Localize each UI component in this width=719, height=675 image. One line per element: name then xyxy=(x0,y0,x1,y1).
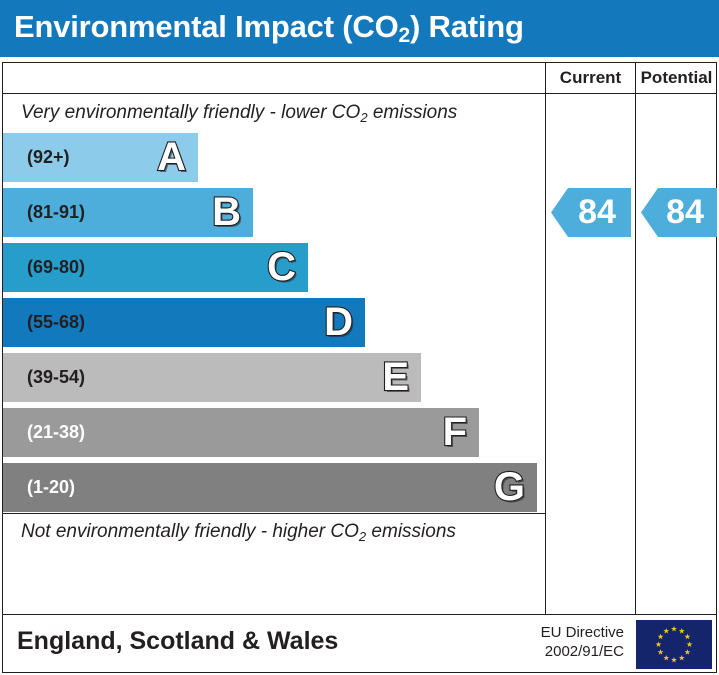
column-header-current: Current xyxy=(546,63,635,93)
band-range-b: (81-91) xyxy=(27,188,85,237)
caption-top: Very environmentally friendly - lower CO… xyxy=(3,95,545,131)
band-row-c: (69-80) C xyxy=(3,243,308,292)
caption-top-post: emissions xyxy=(368,102,458,123)
band-letter-e: E xyxy=(382,357,409,397)
band-row-b: (81-91) B xyxy=(3,188,253,237)
band-range-f: (21-38) xyxy=(27,408,85,457)
eu-flag-icon xyxy=(636,620,712,669)
caption-top-subscript: 2 xyxy=(360,110,367,125)
band-row-g: (1-20) G xyxy=(3,463,537,512)
eu-flag-stars xyxy=(636,620,712,669)
caption-bottom: Not environmentally friendly - higher CO… xyxy=(3,513,545,549)
current-rating-arrow: 84 xyxy=(551,188,631,237)
band-range-g: (1-20) xyxy=(27,463,75,512)
column-divider-current xyxy=(545,63,546,614)
page-title-main: Environmental Impact (CO xyxy=(14,9,399,44)
band-letter-f: F xyxy=(443,412,467,452)
page-title-subscript: 2 xyxy=(399,24,410,47)
current-rating-value: 84 xyxy=(578,193,616,232)
band-row-d: (55-68) D xyxy=(3,298,365,347)
table-header-row: Current Potential xyxy=(3,63,716,94)
epc-environmental-impact-chart: Environmental Impact (CO2) Rating Curren… xyxy=(0,0,719,675)
band-range-c: (69-80) xyxy=(27,243,85,292)
footer-directive: EU Directive 2002/91/EC xyxy=(504,623,624,661)
band-letter-a: A xyxy=(157,137,186,177)
caption-bottom-post: emissions xyxy=(366,521,456,542)
caption-top-pre: Very environmentally friendly - lower CO xyxy=(21,102,360,123)
page-title-tail: ) Rating xyxy=(410,9,524,44)
footer-directive-line2: 2002/91/EC xyxy=(504,642,624,661)
footer-bar: England, Scotland & Wales EU Directive 2… xyxy=(2,615,717,673)
band-row-f: (21-38) F xyxy=(3,408,479,457)
caption-bottom-subscript: 2 xyxy=(359,529,366,544)
band-row-e: (39-54) E xyxy=(3,353,421,402)
page-title: Environmental Impact (CO2) Rating xyxy=(14,9,524,45)
band-letter-b: B xyxy=(212,192,241,232)
column-header-potential: Potential xyxy=(636,63,717,93)
band-range-e: (39-54) xyxy=(27,353,85,402)
band-row-a: (92+) A xyxy=(3,133,198,182)
column-divider-potential xyxy=(635,63,636,614)
potential-rating-arrow: 84 xyxy=(641,188,717,237)
band-range-d: (55-68) xyxy=(27,298,85,347)
title-banner: Environmental Impact (CO2) Rating xyxy=(0,0,719,57)
band-letter-g: G xyxy=(494,467,525,507)
band-list: (92+) A (81-91) B (69-80) C (55-68) D (3… xyxy=(3,133,545,513)
band-range-a: (92+) xyxy=(27,133,70,182)
footer-region-label: England, Scotland & Wales xyxy=(17,627,338,656)
band-letter-d: D xyxy=(324,302,353,342)
band-letter-c: C xyxy=(267,247,296,287)
potential-rating-value: 84 xyxy=(666,193,704,232)
rating-table: Current Potential Very environmentally f… xyxy=(2,62,717,615)
caption-bottom-pre: Not environmentally friendly - higher CO xyxy=(21,521,359,542)
footer-directive-line1: EU Directive xyxy=(504,623,624,642)
